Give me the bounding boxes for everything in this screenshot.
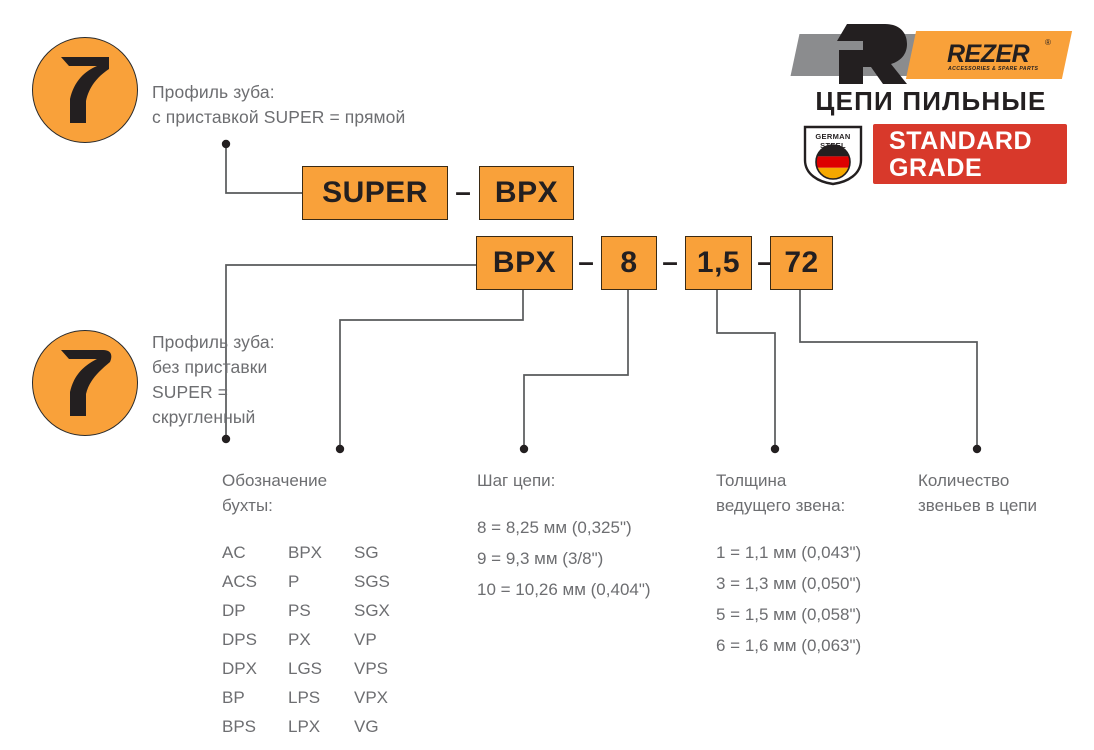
standard-grade-badge: STANDARD GRADE bbox=[873, 124, 1067, 184]
legend-coil-heading: Обозначение бухты: bbox=[222, 468, 390, 518]
coil-code: DP bbox=[222, 598, 288, 623]
legend-pitch-heading: Шаг цепи: bbox=[477, 468, 651, 493]
coil-code: AC bbox=[222, 540, 288, 565]
rezer-logo: REZER ® ACCESSORIES & SPARE PARTS bbox=[795, 28, 1067, 80]
logo-r-icon bbox=[823, 24, 909, 89]
coil-code: LGS bbox=[288, 656, 354, 681]
connector-dot bbox=[222, 140, 230, 148]
coil-code: LPX bbox=[288, 714, 354, 739]
infographic-root: Профиль зуба: с приставкой SUPER = прямо… bbox=[0, 0, 1094, 750]
legend-gauge-rows: 1 = 1,1 мм (0,043") 3 = 1,3 мм (0,050") … bbox=[716, 540, 861, 658]
coil-code: VG bbox=[354, 714, 390, 739]
german-steel-text: GERMAN STEEL bbox=[802, 132, 864, 150]
coil-code: P bbox=[288, 569, 354, 594]
connector-dot bbox=[973, 445, 981, 453]
gauge-value: 3 = 1,3 мм (0,050") bbox=[716, 571, 861, 596]
badge-row: GERMAN STEEL STANDARD GRADE bbox=[795, 124, 1067, 186]
connector-dot bbox=[771, 445, 779, 453]
coil-code: VPX bbox=[354, 685, 390, 710]
coil-code: SGS bbox=[354, 569, 390, 594]
tooth-profile-rounded-icon bbox=[32, 330, 138, 436]
german-steel-line2: STEEL bbox=[820, 141, 846, 150]
code-box-gauge: 1,5 bbox=[685, 236, 752, 290]
legend-links-heading: Количество звеньев в цепи bbox=[918, 468, 1083, 518]
code-box-links: 72 bbox=[770, 236, 833, 290]
standard-grade-line2: GRADE bbox=[889, 155, 1067, 182]
logo-wordmark: REZER bbox=[947, 40, 1029, 69]
coil-code: SG bbox=[354, 540, 390, 565]
connector-dot bbox=[520, 445, 528, 453]
code-box-bpx-super: BPX bbox=[479, 166, 574, 220]
german-steel-line1: GERMAN bbox=[815, 132, 850, 141]
code-separator: – bbox=[449, 166, 477, 218]
connector-dot bbox=[222, 435, 230, 443]
logo-registered-mark: ® bbox=[1045, 38, 1051, 47]
standard-grade-line1: STANDARD bbox=[889, 128, 1067, 155]
connector-dot bbox=[336, 445, 344, 453]
coil-code: SGX bbox=[354, 598, 390, 623]
logo-tagline: ACCESSORIES & SPARE PARTS bbox=[948, 66, 1038, 72]
coil-code: PS bbox=[288, 598, 354, 623]
pitch-value: 9 = 9,3 мм (3/8") bbox=[477, 546, 651, 571]
legend-gauge: Толщина ведущего звена: 1 = 1,1 мм (0,04… bbox=[716, 468, 861, 664]
code-box-bpx: BPX bbox=[476, 236, 573, 290]
code-separator: – bbox=[656, 236, 684, 288]
coil-code: ACS bbox=[222, 569, 288, 594]
coil-code: BP bbox=[222, 685, 288, 710]
coil-code: DPX bbox=[222, 656, 288, 681]
brand-block: REZER ® ACCESSORIES & SPARE PARTS ЦЕПИ П… bbox=[795, 28, 1067, 186]
pitch-value: 8 = 8,25 мм (0,325") bbox=[477, 515, 651, 540]
note-text-straight: Профиль зуба: с приставкой SUPER = прямо… bbox=[152, 80, 482, 130]
gauge-value: 5 = 1,5 мм (0,058") bbox=[716, 602, 861, 627]
pitch-value: 10 = 10,26 мм (0,404") bbox=[477, 577, 651, 602]
legend-links: Количество звеньев в цепи bbox=[918, 468, 1083, 540]
coil-code: VP bbox=[354, 627, 390, 652]
tooth-profile-straight-icon bbox=[32, 37, 138, 143]
german-steel-badge: GERMAN STEEL bbox=[802, 124, 864, 186]
code-separator: – bbox=[572, 236, 600, 288]
gauge-value: 6 = 1,6 мм (0,063") bbox=[716, 633, 861, 658]
brand-title: ЦЕПИ ПИЛЬНЫЕ bbox=[795, 86, 1067, 117]
note-text-rounded: Профиль зуба: без приставки SUPER = скру… bbox=[152, 330, 352, 430]
coil-code: BPS bbox=[222, 714, 288, 739]
coil-code: DPS bbox=[222, 627, 288, 652]
code-box-pitch: 8 bbox=[601, 236, 657, 290]
code-box-super: SUPER bbox=[302, 166, 448, 220]
coil-code: VPS bbox=[354, 656, 390, 681]
legend-coil: Обозначение бухты: AC BPX SG ACS P SGS D… bbox=[222, 468, 390, 739]
coil-code: LPS bbox=[288, 685, 354, 710]
legend-coil-rows: AC BPX SG ACS P SGS DP PS SGX DPS PX VP … bbox=[222, 540, 390, 739]
legend-pitch-rows: 8 = 8,25 мм (0,325") 9 = 9,3 мм (3/8") 1… bbox=[477, 515, 651, 602]
coil-code: BPX bbox=[288, 540, 354, 565]
legend-pitch: Шаг цепи: 8 = 8,25 мм (0,325") 9 = 9,3 м… bbox=[477, 468, 651, 608]
legend-gauge-heading: Толщина ведущего звена: bbox=[716, 468, 861, 518]
coil-code: PX bbox=[288, 627, 354, 652]
gauge-value: 1 = 1,1 мм (0,043") bbox=[716, 540, 861, 565]
